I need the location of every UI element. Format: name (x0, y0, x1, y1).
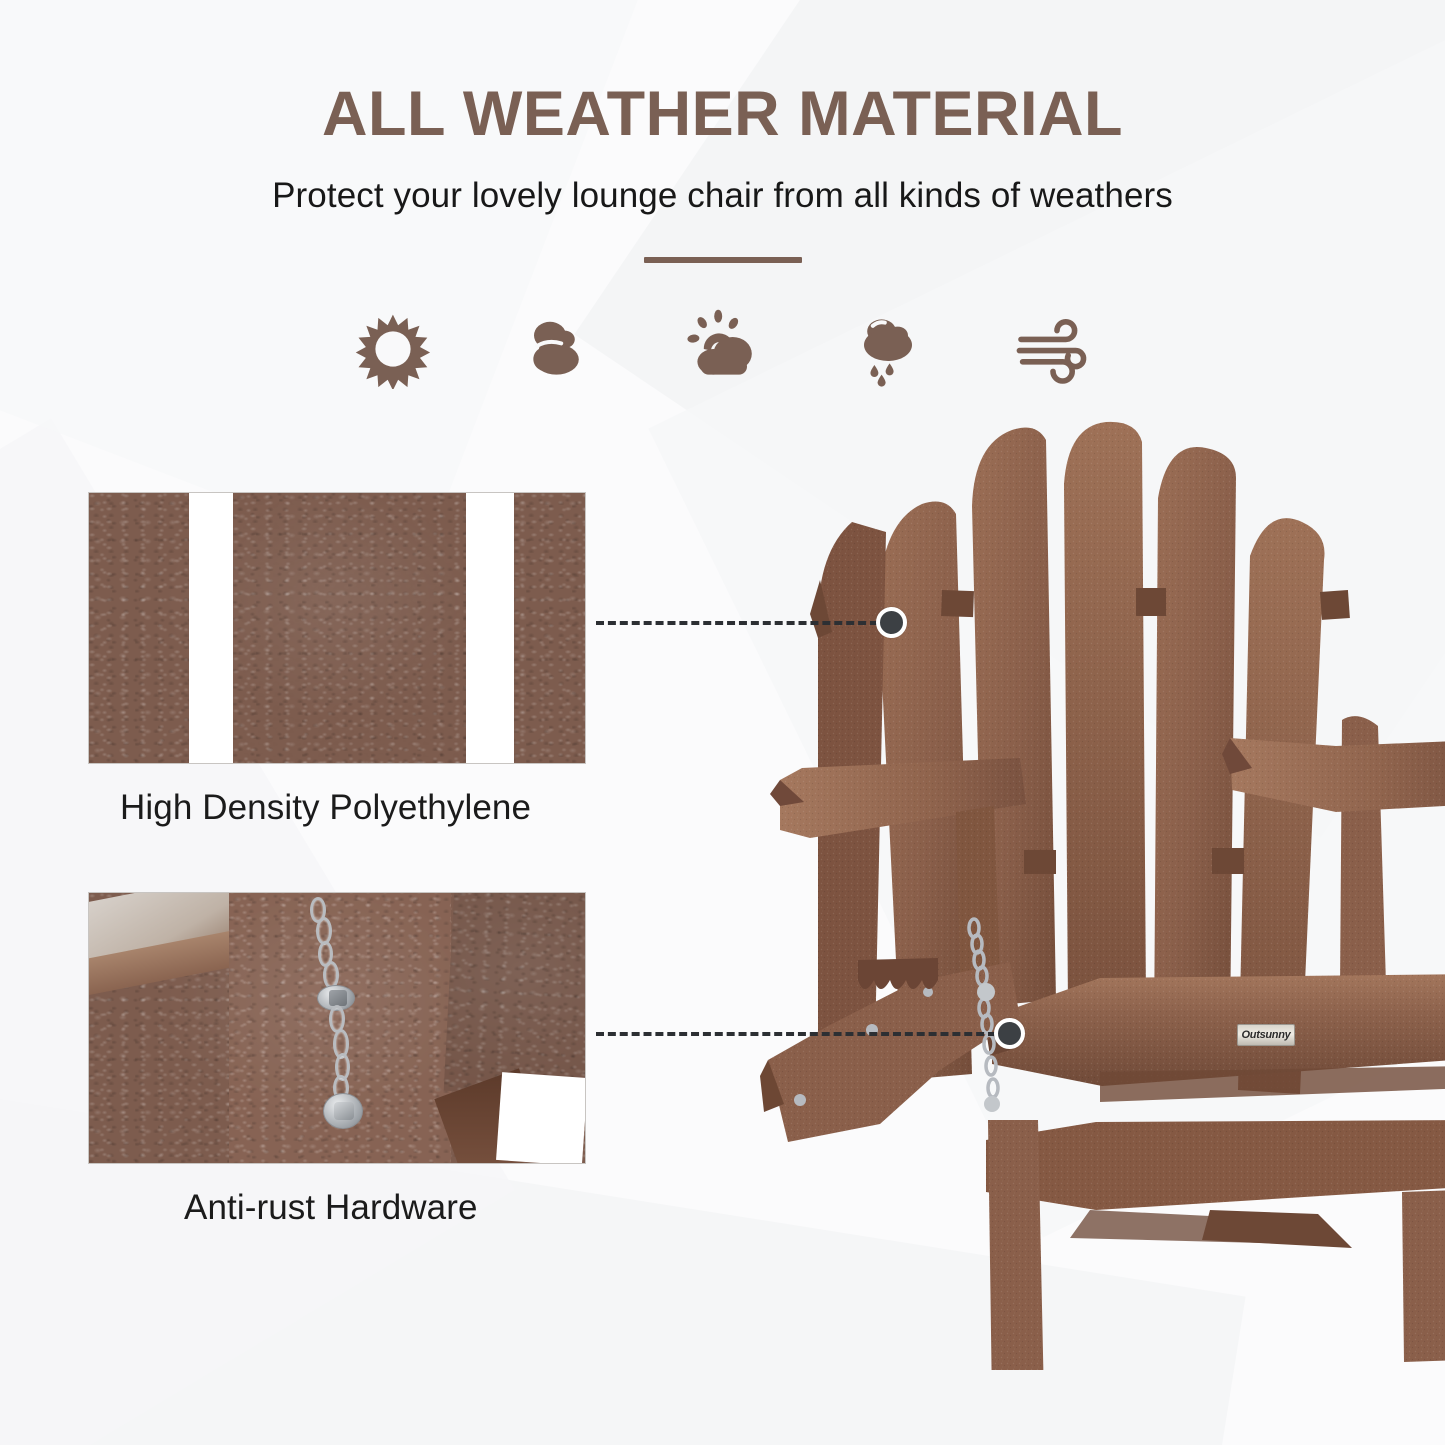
callout-dashed-line (596, 621, 878, 625)
wind-icon (1010, 306, 1096, 392)
partly-sunny-icon (680, 306, 766, 392)
header-divider (644, 257, 802, 263)
hdpe-slat-center (233, 492, 466, 764)
callout-hardware (596, 1018, 1025, 1049)
slat-gap (189, 493, 233, 763)
product-chair-image (760, 420, 1445, 1370)
hardware-caption: Anti-rust Hardware (88, 1188, 586, 1228)
chair-chain-washer (984, 1096, 1000, 1112)
header: ALL WEATHER MATERIAL Protect your lovely… (0, 0, 1445, 263)
callout-dot (994, 1018, 1025, 1049)
brand-name: Outsunny (1242, 1030, 1291, 1041)
brand-plate: Outsunny (1237, 1024, 1295, 1046)
detail-panel-hardware: Anti-rust Hardware (88, 892, 586, 1228)
slat-gap (466, 493, 514, 763)
chair-chain-washer (977, 983, 995, 1001)
hdpe-photo (88, 492, 586, 764)
weather-icon-row (0, 306, 1445, 392)
hardware-photo (88, 892, 586, 1164)
rain-icon (845, 306, 931, 392)
hardware-white-cut (496, 1072, 586, 1164)
callout-dot (876, 607, 907, 638)
chair-seat-frame (986, 974, 1445, 1244)
sun-icon (350, 306, 436, 392)
page-subtitle: Protect your lovely lounge chair from al… (0, 176, 1445, 216)
hardware-right-board (444, 892, 586, 1099)
detail-panel-hdpe: High Density Polyethylene (88, 492, 586, 828)
page-title: ALL WEATHER MATERIAL (0, 78, 1445, 150)
cloudy-icon (515, 306, 601, 392)
bolt-head-upper (329, 990, 347, 1006)
bolt-head-lower (334, 1102, 354, 1120)
callout-hdpe (596, 607, 907, 638)
callout-dashed-line (596, 1032, 996, 1036)
hdpe-caption: High Density Polyethylene (88, 788, 586, 828)
